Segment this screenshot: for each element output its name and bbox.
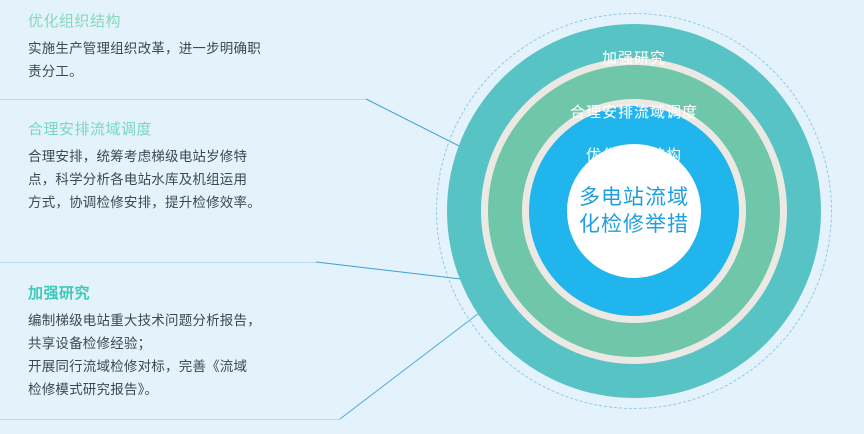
block-line: 点，科学分析各电站水库及机组运用	[28, 168, 328, 191]
block-line: 合理安排，统筹考虑梯级电站岁修特	[28, 145, 328, 168]
ring-label-strengthen-research: 加强研究	[436, 47, 832, 68]
core-title-line-2: 化检修举措	[569, 211, 699, 238]
block-title-strengthen-research: 加强研究	[28, 284, 328, 304]
left-text-panel: 优化组织结构 实施生产管理组织改革，进一步明确职 责分工。 合理安排流域调度 合…	[0, 0, 400, 434]
block-line: 编制梯级电站重大技术问题分析报告，	[28, 309, 328, 332]
concentric-ring-diagram: 加强研究 合理安排流域调度 优化组织结构 多电站流域 化检修举措	[436, 13, 832, 409]
block-body-optimize-structure: 实施生产管理组织改革，进一步明确职 责分工。	[28, 37, 328, 83]
text-block-strengthen-research: 加强研究 编制梯级电站重大技术问题分析报告， 共享设备检修经验； 开展同行流域检…	[28, 284, 328, 401]
ring-label-optimize-structure: 优化组织结构	[436, 144, 832, 165]
core-title: 多电站流域 化检修举措	[569, 184, 699, 238]
divider-line-2	[0, 262, 316, 263]
block-title-basin-scheduling: 合理安排流域调度	[28, 120, 328, 140]
divider-line-1	[0, 99, 366, 100]
block-line: 实施生产管理组织改革，进一步明确职	[28, 37, 328, 60]
diagram-canvas: 优化组织结构 实施生产管理组织改革，进一步明确职 责分工。 合理安排流域调度 合…	[0, 0, 864, 434]
core-title-line-1: 多电站流域	[569, 184, 699, 211]
block-line: 检修模式研究报告》。	[28, 378, 328, 401]
block-title-optimize-structure: 优化组织结构	[28, 12, 328, 32]
block-body-basin-scheduling: 合理安排，统筹考虑梯级电站岁修特 点，科学分析各电站水库及机组运用 方式，协调检…	[28, 145, 328, 214]
block-body-strengthen-research: 编制梯级电站重大技术问题分析报告， 共享设备检修经验； 开展同行流域检修对标，完…	[28, 309, 328, 401]
ring-label-basin-scheduling: 合理安排流域调度	[436, 101, 832, 122]
block-line: 开展同行流域检修对标，完善《流域	[28, 355, 328, 378]
block-line: 责分工。	[28, 60, 328, 83]
text-block-optimize-structure: 优化组织结构 实施生产管理组织改革，进一步明确职 责分工。	[28, 12, 328, 83]
block-line: 方式，协调检修安排，提升检修效率。	[28, 191, 328, 214]
divider-line-3	[0, 419, 340, 420]
text-block-basin-scheduling: 合理安排流域调度 合理安排，统筹考虑梯级电站岁修特 点，科学分析各电站水库及机组…	[28, 120, 328, 214]
block-line: 共享设备检修经验；	[28, 332, 328, 355]
